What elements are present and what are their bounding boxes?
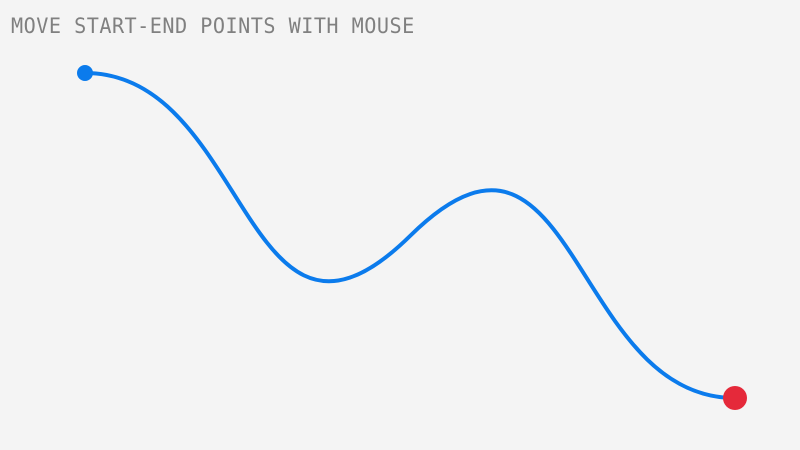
end-point-handle[interactable] bbox=[723, 386, 747, 410]
bezier-curve bbox=[85, 73, 735, 398]
curve-svg-layer bbox=[0, 0, 800, 450]
page-title: MOVE START-END POINTS WITH MOUSE bbox=[11, 14, 415, 38]
start-point-handle[interactable] bbox=[77, 65, 93, 81]
bezier-canvas[interactable]: MOVE START-END POINTS WITH MOUSE bbox=[0, 0, 800, 450]
